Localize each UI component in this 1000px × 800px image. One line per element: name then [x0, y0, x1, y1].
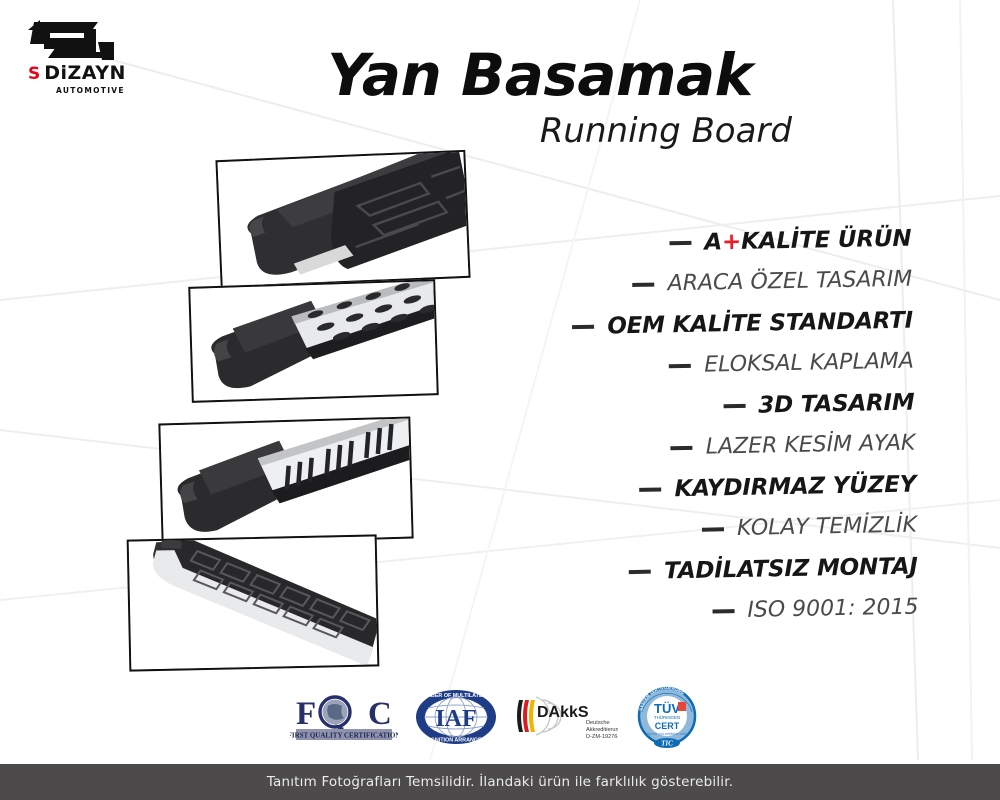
svg-text:DAkkS: DAkkS	[537, 704, 589, 721]
svg-text:IAF: IAF	[435, 706, 476, 732]
iaf-certification-logo: IAF MEMBER OF MULTILATERAL RECOGNITION A…	[414, 688, 498, 746]
product-photo-2	[188, 279, 439, 403]
footer-bar: Tanıtım Fotoğrafları Temsilidir. İlandak…	[0, 764, 1000, 800]
s-dizayn-logo-mark	[24, 18, 120, 62]
feature-label: 3D TASARIM	[758, 389, 915, 418]
svg-text:TÜV: TÜV	[654, 701, 680, 716]
tuv-cert-text: CERT	[655, 721, 680, 731]
tuv-bottom-text: TIC	[661, 740, 673, 748]
dash-icon	[639, 487, 661, 491]
product-photo-4	[127, 534, 380, 671]
iaf-top-text: MEMBER OF MULTILATERAL	[418, 693, 494, 699]
feature-item: ISO 9001: 2015	[458, 587, 919, 637]
svg-text:C: C	[368, 696, 392, 732]
dash-icon	[723, 403, 745, 407]
dash-icon	[702, 527, 724, 531]
page-title: Yan Basamak	[260, 46, 820, 104]
tuv-certification-logo: TÜV THÜRINGEN CERT geprüft und zertifizi…	[634, 686, 700, 748]
fqc-tagline: FIRST QUALITY CERTIFICATION	[290, 732, 398, 740]
product-photo-1	[215, 150, 470, 288]
fqc-certification-logo: F C FIRST QUALITY CERTIFICATION	[290, 688, 398, 746]
svg-text:F: F	[296, 696, 316, 732]
feature-label: ISO 9001: 2015	[747, 595, 919, 623]
dakks-line-2: Akkreditierungsstelle	[586, 727, 618, 733]
brand-subtitle: AUTOMOTIVE	[56, 86, 154, 95]
feature-label: ELOKSAL KAPLAMA	[704, 349, 914, 378]
feature-label: TADİLATSIZ MONTAJ	[664, 553, 918, 584]
feature-label: ARACA ÖZEL TASARIM	[667, 267, 912, 297]
brand-logo: S DiZAYN AUTOMOTIVE	[24, 18, 154, 94]
feature-label: OEM KALİTE STANDARTI	[607, 307, 913, 339]
brand-name: DiZAYN	[44, 64, 126, 83]
brand-wordmark: S DiZAYN	[28, 64, 154, 83]
feature-label: A+KALİTE ÜRÜN	[704, 225, 912, 255]
dakks-certification-logo: DAkkS Deutsche Akkreditierungsstelle D-Z…	[514, 691, 618, 743]
footer-disclaimer: Tanıtım Fotoğrafları Temsilidir. İlandak…	[267, 774, 733, 790]
title-block: Yan Basamak Running Board	[260, 46, 820, 148]
feature-label: LAZER KESİM AYAK	[706, 431, 916, 460]
dash-icon	[572, 324, 594, 328]
iaf-bottom-text: RECOGNITION ARRANGEMENT	[415, 738, 498, 744]
dash-icon	[669, 240, 691, 244]
dash-icon	[671, 445, 693, 449]
dash-icon	[629, 569, 651, 573]
certification-logos: F C FIRST QUALITY CERTIFICATION IAF MEMB…	[290, 686, 700, 748]
feature-list: A+KALİTE ÜRÜN ARACA ÖZEL TASARIM OEM KAL…	[451, 218, 919, 637]
dash-icon	[669, 363, 691, 367]
product-advertisement-page: S DiZAYN AUTOMOTIVE Yan Basamak Running …	[0, 0, 1000, 800]
dakks-line-1: Deutsche	[586, 720, 610, 726]
page-subtitle: Running Board	[260, 114, 820, 148]
brand-s-letter: S	[28, 66, 39, 83]
feature-label: KAYDIRMAZ YÜZEY	[674, 471, 916, 502]
tuv-region: THÜRINGEN	[654, 715, 680, 720]
feature-label: KOLAY TEMİZLİK	[737, 513, 917, 541]
dash-icon	[712, 609, 734, 613]
tuv-sub-text: geprüft und zertifiziert nach	[647, 732, 688, 736]
dakks-line-3: D-ZM-19276-01-00	[586, 734, 618, 740]
dash-icon	[633, 282, 655, 286]
product-photo-3	[158, 417, 413, 546]
